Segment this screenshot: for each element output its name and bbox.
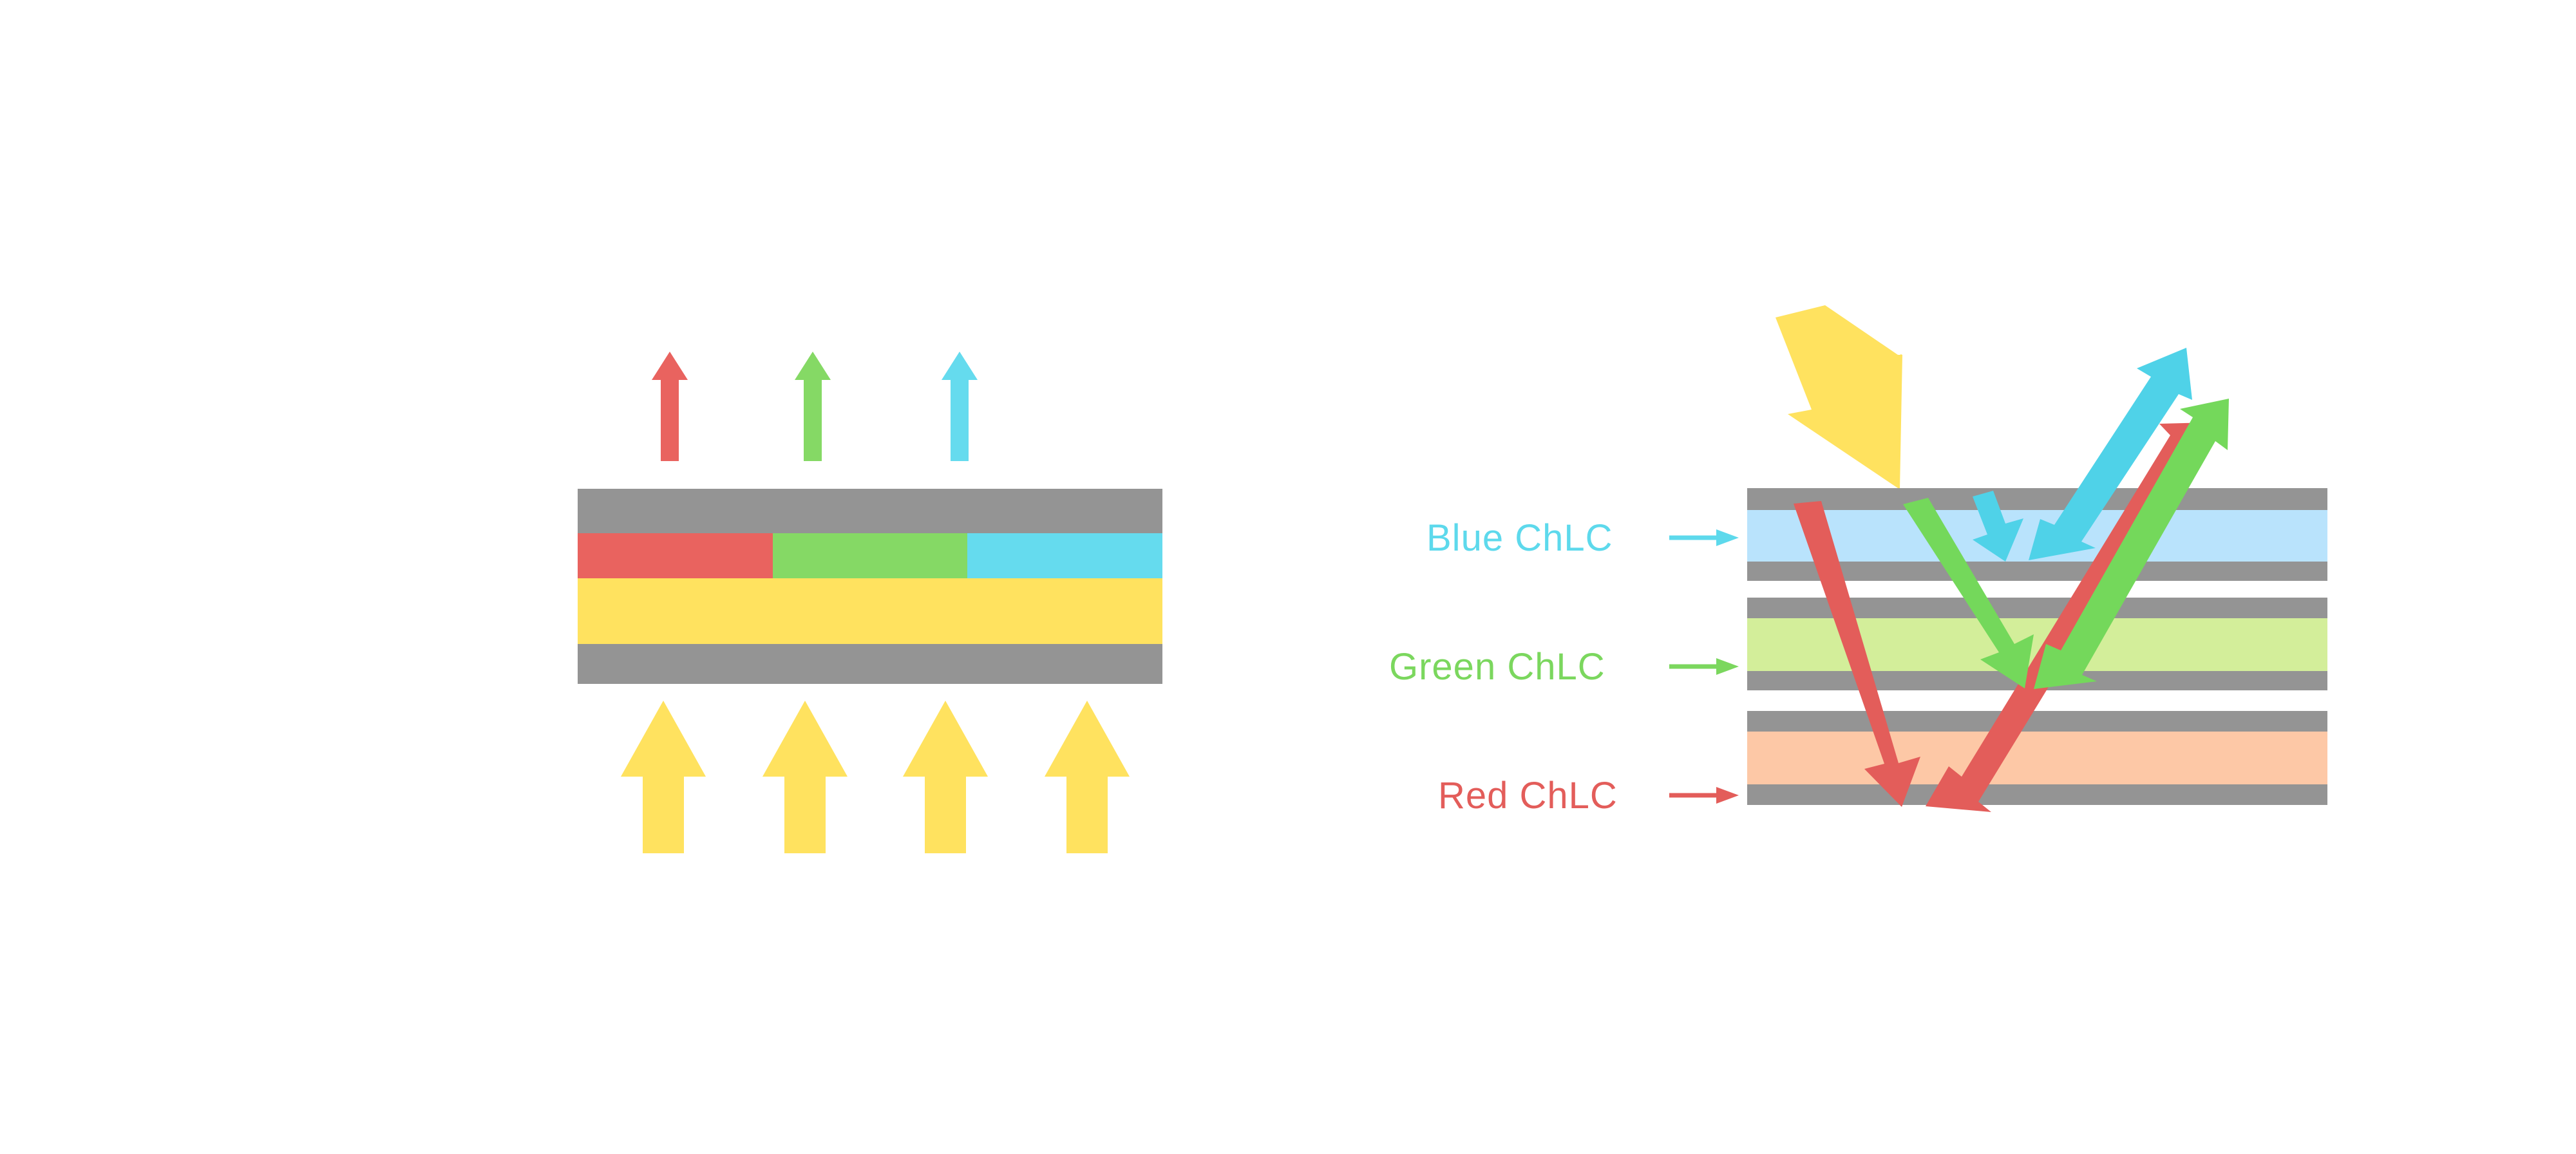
chlc-display-diagram: Blue ChLC Green ChLC Red ChLC (0, 0, 2576, 1154)
green-filter-segment (773, 533, 967, 578)
red-chlc-label: Red ChLC (1438, 775, 1618, 817)
backlight-layer (578, 578, 1162, 644)
red-cell-bottom-electrode (1747, 784, 2327, 805)
blue-filter-segment (967, 533, 1162, 578)
blue-cell-top-electrode (1747, 488, 2327, 510)
left-stack (578, 489, 1162, 684)
diagram-canvas: Blue ChLC Green ChLC Red ChLC (0, 0, 2576, 1154)
blue-chlc-label: Blue ChLC (1426, 517, 1613, 559)
red-cell-top-electrode (1747, 711, 2327, 732)
left-stack-bottom-electrode (578, 644, 1162, 684)
left-stack-top-electrode (578, 489, 1162, 533)
red-chlc-cell (1747, 711, 2327, 805)
green-chlc-label: Green ChLC (1389, 646, 1605, 688)
red-filter-segment (578, 533, 773, 578)
red-chlc-layer (1747, 732, 2327, 784)
